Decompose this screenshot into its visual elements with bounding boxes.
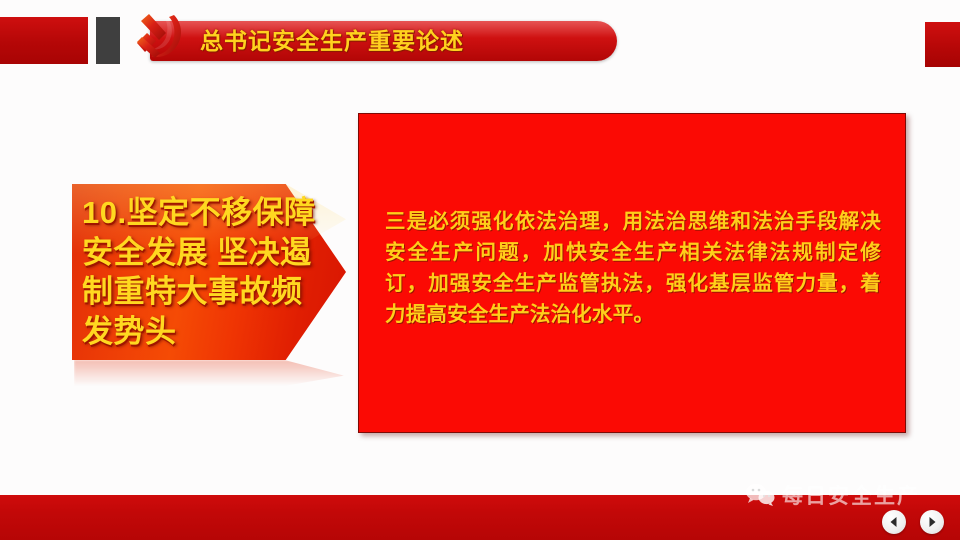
arrow-right-icon[interactable]: [920, 510, 944, 534]
header-gray-block: [96, 17, 120, 64]
content-body-text: 三是必须强化依法治理，用法治思维和法治手段解决安全生产问题，加快安全生产相关法律…: [385, 206, 881, 331]
page-title: 总书记安全生产重要论述: [200, 22, 600, 60]
slide-canvas: 总书记安全生产重要论述 10.坚定不移保障安全发展 坚决遏制重特大事故频发势头 …: [0, 0, 960, 540]
slide-navigation: [882, 510, 944, 534]
cpc-hammer-sickle-emblem-icon: [128, 9, 190, 65]
header-right-red-block: [925, 22, 960, 67]
watermark-text: 每日安全生产: [782, 480, 920, 510]
arrow-reflection: [74, 360, 344, 386]
arrow-left-icon[interactable]: [882, 510, 906, 534]
header-left-red-block: [0, 17, 88, 64]
wechat-logo-icon: [745, 483, 775, 507]
content-box: 三是必须强化依法治理，用法治思维和法治手段解决安全生产问题，加快安全生产相关法律…: [358, 113, 906, 433]
section-title-arrow: 10.坚定不移保障安全发展 坚决遏制重特大事故频发势头: [72, 184, 346, 360]
section-title-text: 10.坚定不移保障安全发展 坚决遏制重特大事故频发势头: [82, 193, 318, 352]
watermark: 每日安全生产: [745, 478, 945, 512]
